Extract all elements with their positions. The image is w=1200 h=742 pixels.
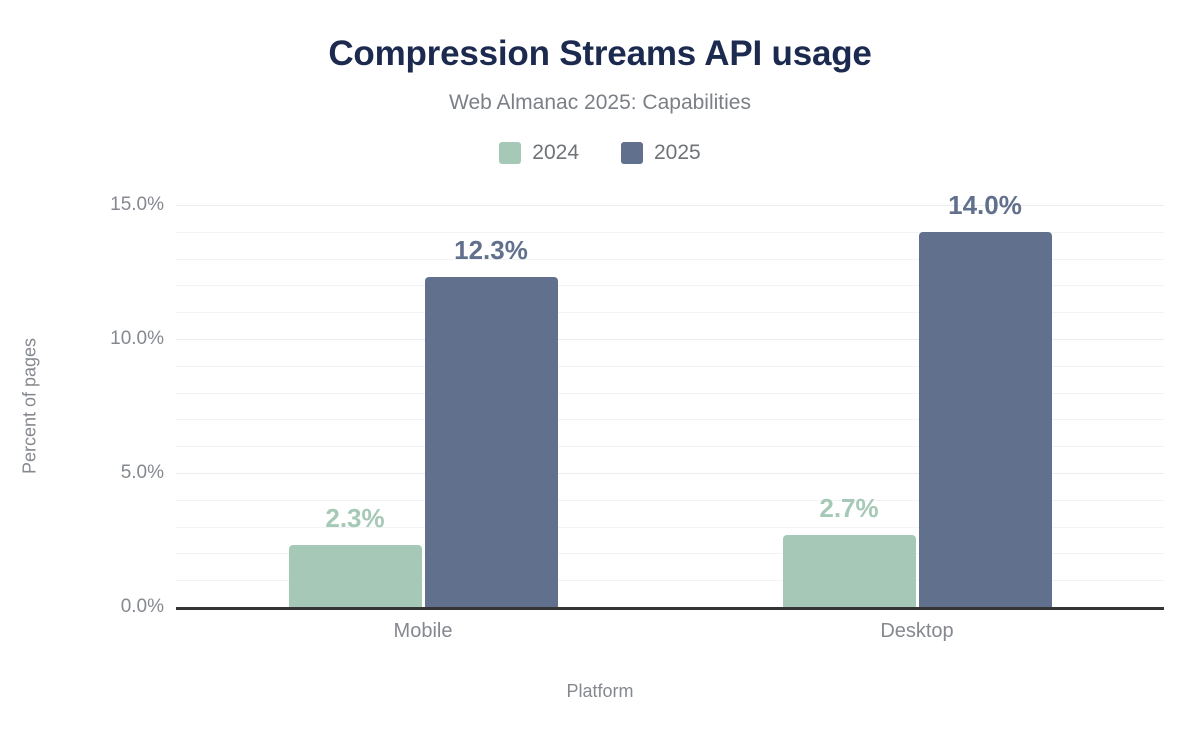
x-axis-title: Platform — [0, 680, 1200, 702]
y-axis-tick-label: 5.0% — [121, 462, 164, 484]
legend-item-2025[interactable]: 2025 — [621, 141, 701, 165]
legend-label-2025: 2025 — [654, 141, 701, 165]
bar-value-label-desktop-2025: 14.0% — [899, 190, 1072, 220]
chart-title: Compression Streams API usage — [0, 33, 1200, 75]
y-axis-tick-label: 0.0% — [121, 596, 164, 618]
legend-label-2024: 2024 — [532, 141, 579, 165]
bar-value-label-mobile-2024: 2.3% — [269, 503, 442, 533]
bar-desktop-2025[interactable] — [919, 232, 1052, 607]
x-axis-baseline — [176, 607, 1164, 610]
x-axis-tick-label-mobile: Mobile — [394, 619, 453, 643]
bar-value-label-mobile-2025: 12.3% — [405, 235, 578, 265]
chart-container: Compression Streams API usage Web Almana… — [0, 0, 1200, 742]
chart-legend: 2024 2025 — [0, 141, 1200, 165]
bar-mobile-2024[interactable] — [289, 545, 422, 607]
legend-swatch-2024 — [499, 142, 521, 164]
y-axis-tick-label: 15.0% — [110, 194, 164, 216]
bar-value-label-desktop-2024: 2.7% — [763, 493, 936, 523]
chart-subtitle: Web Almanac 2025: Capabilities — [0, 89, 1200, 117]
y-axis-title: Percent of pages — [20, 338, 41, 474]
bar-mobile-2025[interactable] — [425, 277, 558, 607]
plot-area: 2.3%12.3%2.7%14.0% — [176, 205, 1164, 607]
x-axis-tick-label-desktop: Desktop — [880, 619, 953, 643]
bar-desktop-2024[interactable] — [783, 535, 916, 607]
y-axis-tick-label: 10.0% — [110, 328, 164, 350]
legend-item-2024[interactable]: 2024 — [499, 141, 579, 165]
legend-swatch-2025 — [621, 142, 643, 164]
